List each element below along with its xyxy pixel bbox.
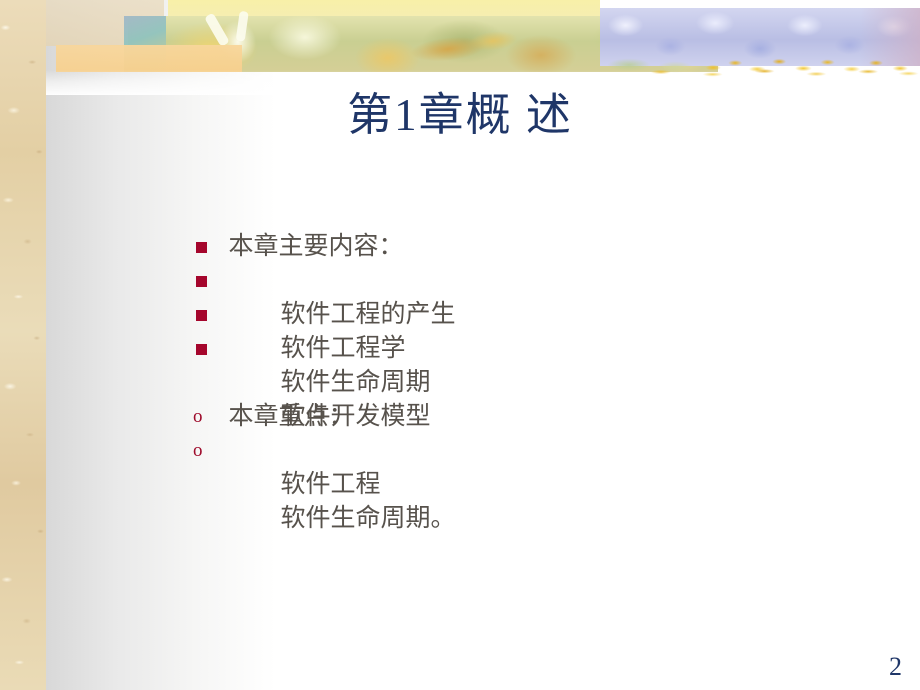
list-item: 软件开发模型: [191, 332, 751, 366]
content-heading-main: 本章主要内容：: [191, 196, 751, 230]
circle-bullet-icon: o: [193, 434, 203, 468]
content-heading-key: 本章重点：: [191, 366, 751, 400]
list-item: o 软件生命周期。: [191, 434, 751, 468]
list-item: o 软件工程: [191, 400, 751, 434]
slide-body: 本章主要内容： 软件工程的产生 软件工程学 软件生命周期 软件开发模型 本章重点…: [191, 196, 751, 468]
square-bullet-icon: [196, 276, 207, 287]
square-bullet-icon: [196, 242, 207, 253]
page-number: 2: [889, 652, 902, 682]
content-line-text: 软件生命周期。: [281, 505, 456, 532]
square-bullet-icon: [196, 310, 207, 321]
list-item: 软件工程学: [191, 264, 751, 298]
circle-bullet-icon: o: [193, 400, 203, 434]
square-bullet-icon: [196, 344, 207, 355]
list-item: 软件生命周期: [191, 298, 751, 332]
banner-peach-bar: [56, 45, 242, 72]
content-line-text: 软件工程: [281, 471, 381, 498]
slide-title: 第1章概 述: [0, 78, 920, 143]
presentation-slide: 第1章概 述 本章主要内容： 软件工程的产生 软件工程学 软件生命周期 软件开发…: [0, 0, 920, 690]
list-item: 软件工程的产生: [191, 230, 751, 264]
